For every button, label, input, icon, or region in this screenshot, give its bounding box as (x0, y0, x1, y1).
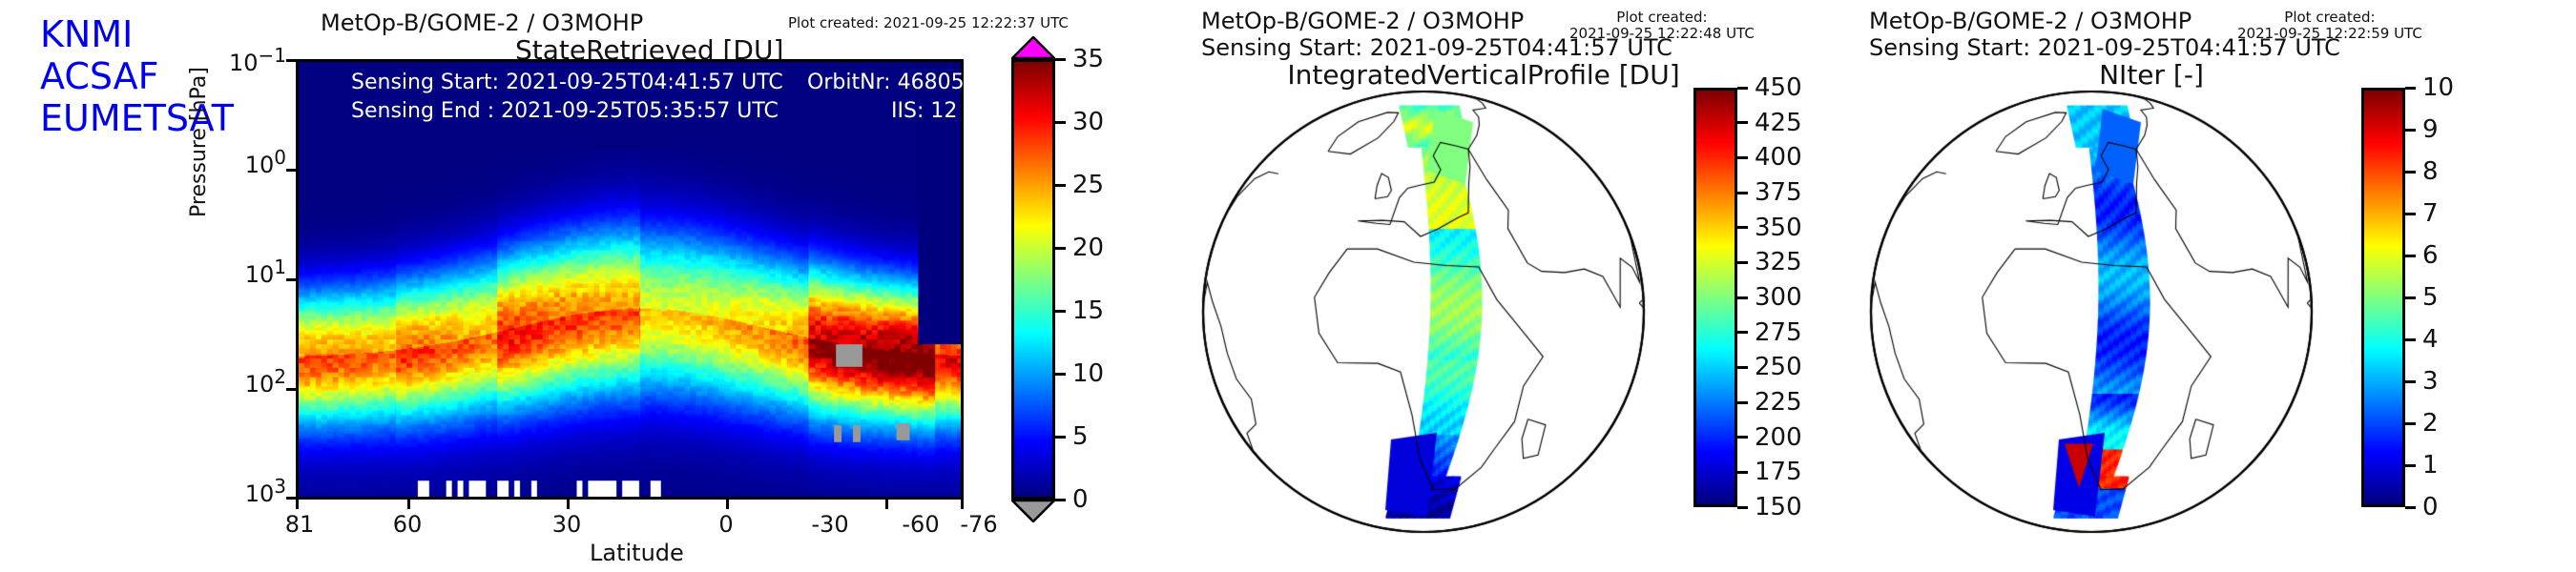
panel3-plot-created-value: 2021-09-25 12:22:59 UTC (2237, 26, 2422, 42)
panel1-xtick-5: -60 (902, 511, 939, 538)
panel2-axis-title: IntegratedVerticalProfile [DU] (1131, 59, 1837, 91)
colorbar-tick-mark (1737, 506, 1748, 509)
panel3-axis-title: NIter [-] (1798, 59, 2504, 91)
colorbar-tick-mark (1055, 247, 1066, 250)
panel1-xtick-6: -76 (960, 511, 997, 538)
colorbar-tick-mark (2405, 129, 2416, 132)
colorbar-tick-mark (1737, 226, 1748, 229)
colorbar-tick-label: 20 (1072, 234, 1104, 262)
panel2-suptitle: MetOp-B/GOME-2 / O3MOHP (1201, 8, 1524, 34)
colorbar-tick-mark (1055, 499, 1066, 501)
panel2-plot-created-value: 2021-09-25 12:22:48 UTC (1569, 26, 1755, 42)
colorbar-tick-label: 5 (2422, 283, 2439, 312)
colorbar-tick-mark (1055, 310, 1066, 313)
panel3-globe-map (1867, 88, 2316, 536)
colorbar-tick-mark (1055, 58, 1066, 61)
colorbar-tick-label: 10 (1072, 359, 1104, 388)
colorbar-tick-label: 4 (2422, 325, 2439, 354)
panel1-plot-area (296, 59, 964, 500)
panel1-plot-created: Plot created: 2021-09-25 12:22:37 UTC (788, 15, 1069, 31)
panel1-xtick-mark-2 (567, 500, 570, 509)
colorbar-tick-mark (2405, 171, 2416, 174)
panel1-heatmap (299, 62, 961, 497)
panel2-plot-created-label: Plot created: (1569, 10, 1755, 26)
colorbar-tick-mark (2405, 213, 2416, 215)
panel1-ytick-mark-4 (286, 497, 296, 500)
colorbar-tick-mark (1737, 401, 1748, 404)
panel1-ytick-4: 103 (245, 475, 286, 507)
colorbar-tick-label: 0 (1072, 485, 1089, 514)
panel1-colorbar-under-arrow (1011, 500, 1055, 522)
panel1-ytick-mark-3 (286, 388, 296, 391)
panel1-ytick-0: 10−1 (229, 44, 286, 76)
panel1-xtick-2: 30 (552, 511, 582, 538)
colorbar-tick-mark (2405, 87, 2416, 90)
figure-canvas: KNMI ACSAF EUMETSAT MetOp-B/GOME-2 / O3M… (0, 0, 2576, 572)
colorbar-tick-label: 350 (1755, 214, 1802, 242)
colorbar-tick-label: 200 (1755, 423, 1802, 452)
colorbar-tick-mark (1737, 331, 1748, 334)
panel1-sensing-start: Sensing Start: 2021-09-25T04:41:57 UTC (351, 71, 783, 94)
colorbar-tick-label: 300 (1755, 283, 1802, 312)
colorbar-tick-label: 35 (1072, 45, 1104, 73)
panel1-colorbar-gradient (1011, 59, 1055, 500)
colorbar-tick-mark (1737, 436, 1748, 439)
colorbar-tick-label: 250 (1755, 353, 1802, 381)
colorbar-tick-label: 325 (1755, 248, 1802, 276)
colorbar-tick-mark (1055, 184, 1066, 187)
panel3-colorbar-gradient (2361, 88, 2405, 507)
colorbar-tick-label: 225 (1755, 388, 1802, 417)
panel1-xtick-mark-3 (726, 500, 729, 509)
panel1-xtick-mark-0 (296, 500, 299, 509)
panel-niter: MetOp-B/GOME-2 / O3MOHP Sensing Start: 2… (1856, 0, 2562, 572)
colorbar-tick-mark (1737, 156, 1748, 159)
colorbar-tick-label: 7 (2422, 199, 2439, 228)
panel1-ytick-group: 10−1 100 101 102 103 (206, 59, 286, 500)
panel2-plot-created: Plot created: 2021-09-25 12:22:48 UTC (1569, 10, 1755, 42)
colorbar-tick-mark (1737, 192, 1748, 194)
colorbar-tick-label: 150 (1755, 493, 1802, 521)
colorbar-tick-label: 8 (2422, 157, 2439, 186)
panel-integrated-vertical-profile: MetOp-B/GOME-2 / O3MOHP Sensing Start: 2… (1188, 0, 1894, 572)
colorbar-tick-label: 5 (1072, 422, 1089, 451)
panel1-xtick-mark-5 (961, 500, 964, 509)
colorbar-tick-mark (2405, 506, 2416, 509)
colorbar-tick-mark (1737, 471, 1748, 474)
colorbar-tick-label: 450 (1755, 73, 1802, 102)
panel1-ytick-3: 102 (245, 365, 286, 398)
panel1-xtick-mark-1 (407, 500, 410, 509)
panel1-iis: IIS: 12 (891, 99, 957, 123)
colorbar-tick-label: 425 (1755, 109, 1802, 137)
colorbar-tick-mark (1737, 296, 1748, 299)
colorbar-tick-label: 275 (1755, 318, 1802, 347)
panel1-xlabel: Latitude (590, 540, 684, 566)
colorbar-tick-mark (1055, 436, 1066, 439)
colorbar-tick-mark (2405, 422, 2416, 425)
colorbar-tick-label: 10 (2422, 73, 2454, 102)
panel1-orbit-number: OrbitNr: 46805 (807, 71, 965, 94)
colorbar-tick-label: 30 (1072, 108, 1104, 136)
colorbar-tick-mark (2405, 255, 2416, 257)
panel1-xtick-mark-4 (885, 500, 888, 509)
colorbar-tick-mark (1737, 87, 1748, 90)
panel2-colorbar-gradient (1693, 88, 1737, 507)
colorbar-tick-mark (1055, 121, 1066, 124)
colorbar-tick-label: 375 (1755, 178, 1802, 207)
colorbar-tick-mark (1737, 261, 1748, 264)
panel1-sensing-end: Sensing End : 2021-09-25T05:35:57 UTC (351, 99, 779, 123)
colorbar-tick-label: 1 (2422, 451, 2439, 480)
colorbar-tick-mark (2405, 464, 2416, 467)
panel1-ytick-mark-0 (286, 59, 296, 62)
panel1-ytick-1: 100 (245, 146, 286, 178)
panel3-plot-created: Plot created: 2021-09-25 12:22:59 UTC (2237, 10, 2422, 42)
panel1-ytick-mark-2 (286, 278, 296, 281)
colorbar-tick-label: 6 (2422, 241, 2439, 270)
panel3-suptitle: MetOp-B/GOME-2 / O3MOHP (1869, 8, 2192, 34)
colorbar-tick-mark (1737, 121, 1748, 124)
panel1-xtick-3: 0 (718, 511, 733, 538)
panel1-colorbar-over-arrow (1011, 36, 1055, 59)
colorbar-tick-label: 25 (1072, 171, 1104, 199)
panel1-plot-created-value: 2021-09-25 12:22:37 UTC (883, 14, 1069, 31)
colorbar-tick-mark (2405, 338, 2416, 341)
colorbar-tick-label: 9 (2422, 115, 2439, 144)
panel1-xtick-group: 81 60 30 0 -30 -60 -76 (296, 500, 964, 538)
colorbar-tick-label: 3 (2422, 367, 2439, 396)
colorbar-tick-label: 15 (1072, 296, 1104, 325)
colorbar-tick-label: 175 (1755, 458, 1802, 486)
panel1-suptitle: MetOp-B/GOME-2 / O3MOHP (321, 10, 643, 36)
panel1-xtick-0: 81 (285, 511, 315, 538)
colorbar-tick-label: 0 (2422, 493, 2439, 521)
colorbar-tick-mark (1737, 366, 1748, 369)
panel2-globe-map (1199, 88, 1648, 536)
panel1-ytick-2: 101 (245, 255, 286, 288)
colorbar-tick-mark (2405, 296, 2416, 299)
colorbar-tick-label: 400 (1755, 143, 1802, 172)
panel1-plot-created-label: Plot created: (788, 14, 879, 31)
colorbar-tick-label: 2 (2422, 409, 2439, 438)
colorbar-tick-mark (1055, 373, 1066, 376)
panel1-xtick-1: 60 (393, 511, 423, 538)
panel3-plot-created-label: Plot created: (2237, 10, 2422, 26)
panel1-ytick-mark-1 (286, 169, 296, 172)
colorbar-tick-mark (2405, 380, 2416, 383)
panel1-xtick-4: -30 (811, 511, 848, 538)
panel-state-retrieved: MetOp-B/GOME-2 / O3MOHP StateRetrieved [… (0, 0, 1126, 572)
